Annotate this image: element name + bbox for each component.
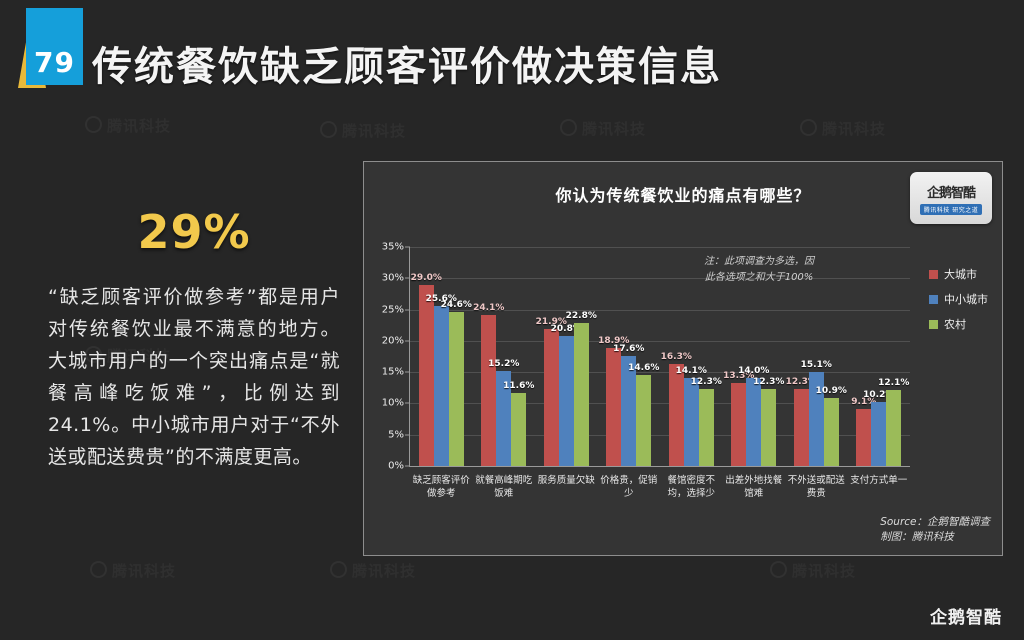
bar-value-label: 24.1% [473,303,504,313]
chart-source: Source：企鹅智酷调查 制图：腾讯科技 [880,515,990,545]
chart-panel: 你认为传统餐饮业的痛点有哪些？ 企鹅智酷 腾讯科技 研究之道 注：此项调查为多选… [363,161,1003,556]
legend-label: 大城市 [944,266,977,282]
bar-农村[interactable]: 10.9% [824,398,839,466]
penguin-intelligence-logo: 企鹅智酷 腾讯科技 研究之道 [910,172,992,224]
bar-group: 24.1%15.2%11.6%就餐高峰期吃饭难 [473,247,536,466]
chart-legend: 大城市中小城市农村 [929,266,988,341]
legend-label: 农村 [944,316,966,332]
watermark: 腾讯科技 [560,118,646,139]
x-axis-category-label: 服务质量欠缺 [533,474,599,487]
y-axis-tick-label: 25% [382,304,404,315]
page-title: 传统餐饮缺乏顾客评价做决策信息 [92,34,722,92]
watermark: 腾讯科技 [770,560,856,581]
bar-农村[interactable]: 12.3% [699,389,714,466]
y-axis-tick-label: 20% [382,335,404,346]
footer-logo-text: 企鹅智酷 [930,603,1002,628]
bar-大城市[interactable]: 12.3% [794,389,809,466]
bar-中小城市[interactable]: 14.0% [746,378,761,466]
bar-value-label: 16.3% [661,352,692,362]
bar-value-label: 12.3% [753,377,784,387]
legend-swatch-icon [929,320,938,329]
bar-农村[interactable]: 14.6% [636,375,651,466]
x-axis-category-label: 缺乏顾客评价做参考 [408,474,474,500]
bar-value-label: 12.1% [878,378,909,388]
bar-大城市[interactable]: 21.9% [544,329,559,466]
bar-大城市[interactable]: 24.1% [481,315,496,466]
bar-value-label: 22.8% [566,311,597,321]
bar-group: 13.3%14.0%12.3%出差外地找餐馆难 [723,247,786,466]
bar-value-label: 15.1% [801,360,832,370]
legend-swatch-icon [929,270,938,279]
bar-group: 12.3%15.1%10.9%不外送或配送费贵 [785,247,848,466]
bar-group: 9.1%10.2%12.1%支付方式单一 [848,247,911,466]
y-axis-tick-label: 30% [382,273,404,284]
watermark: 腾讯科技 [320,120,406,141]
summary-paragraph: “缺乏顾客评价做参考”都是用户对传统餐饮业最不满意的地方。大城市用户的一个突出痛… [48,281,340,473]
logo-main-text: 企鹅智酷 [927,182,975,201]
bar-中小城市[interactable]: 25.6% [434,306,449,466]
bar-大城市[interactable]: 29.0% [419,285,434,466]
bar-大城市[interactable]: 13.3% [731,383,746,466]
x-axis-category-label: 就餐高峰期吃饭难 [471,474,537,500]
bar-groups: 29.0%25.6%24.6%缺乏顾客评价做参考24.1%15.2%11.6%就… [410,247,910,466]
x-axis-category-label: 不外送或配送费贵 [783,474,849,500]
y-axis-tick-label: 15% [382,367,404,378]
bar-group: 18.9%17.6%14.6%价格贵，促销少 [598,247,661,466]
left-summary-column: 29% “缺乏顾客评价做参考”都是用户对传统餐饮业最不满意的地方。大城市用户的一… [48,205,340,473]
bar-大城市[interactable]: 16.3% [669,364,684,466]
y-axis-tick-label: 35% [382,242,404,253]
chart-plot-area: 0%5%10%15%20%25%30%35% 29.0%25.6%24.6%缺乏… [409,247,910,467]
chart-title: 你认为传统餐饮业的痛点有哪些？ [364,182,1002,206]
bar-value-label: 11.6% [503,381,534,391]
bar-农村[interactable]: 12.3% [761,389,776,466]
legend-item-1[interactable]: 中小城市 [929,291,988,307]
legend-swatch-icon [929,295,938,304]
source-line-2: 制图：腾讯科技 [880,530,990,545]
slide-header: 79 传统餐饮缺乏顾客评价做决策信息 [0,0,1024,110]
legend-item-2[interactable]: 农村 [929,316,988,332]
watermark: 腾讯科技 [330,560,416,581]
bar-value-label: 10.9% [816,386,847,396]
footer-logo: 企鹅智酷 [930,603,1002,628]
bar-中小城市[interactable]: 10.2% [871,402,886,466]
bar-农村[interactable]: 22.8% [574,323,589,466]
bar-group: 16.3%14.1%12.3%餐馆密度不均，选择少 [660,247,723,466]
bar-农村[interactable]: 11.6% [511,393,526,466]
bar-value-label: 17.6% [613,344,644,354]
y-axis-tick-label: 5% [388,429,404,440]
bar-value-label: 14.0% [738,366,769,376]
bar-value-label: 14.6% [628,363,659,373]
bar-中小城市[interactable]: 20.8% [559,336,574,466]
bar-value-label: 12.3% [691,377,722,387]
bar-value-label: 24.6% [441,300,472,310]
bar-大城市[interactable]: 9.1% [856,409,871,466]
source-line-1: Source：企鹅智酷调查 [880,515,990,530]
legend-item-0[interactable]: 大城市 [929,266,988,282]
bar-value-label: 14.1% [676,366,707,376]
bar-农村[interactable]: 12.1% [886,390,901,466]
watermark: 腾讯科技 [800,118,886,139]
page-number-badge: 79 [26,8,83,85]
bar-group: 21.9%20.8%22.8%服务质量欠缺 [535,247,598,466]
y-axis-tick-label: 0% [388,461,404,472]
x-axis-category-label: 价格贵，促销少 [596,474,662,500]
logo-sub-text: 腾讯科技 研究之道 [920,204,982,215]
bar-value-label: 29.0% [411,273,442,283]
watermark: 腾讯科技 [90,560,176,581]
y-axis-tick-label: 10% [382,398,404,409]
x-axis-category-label: 支付方式单一 [846,474,912,487]
bar-大城市[interactable]: 18.9% [606,348,621,466]
x-axis-category-label: 出差外地找餐馆难 [721,474,787,500]
bar-中小城市[interactable]: 14.1% [684,378,699,466]
x-axis-category-label: 餐馆密度不均，选择少 [658,474,724,500]
bar-group: 29.0%25.6%24.6%缺乏顾客评价做参考 [410,247,473,466]
bar-value-label: 15.2% [488,359,519,369]
watermark: 腾讯科技 [85,115,171,136]
legend-label: 中小城市 [944,291,988,307]
bar-农村[interactable]: 24.6% [449,312,464,466]
highlight-stat: 29% [48,205,340,259]
